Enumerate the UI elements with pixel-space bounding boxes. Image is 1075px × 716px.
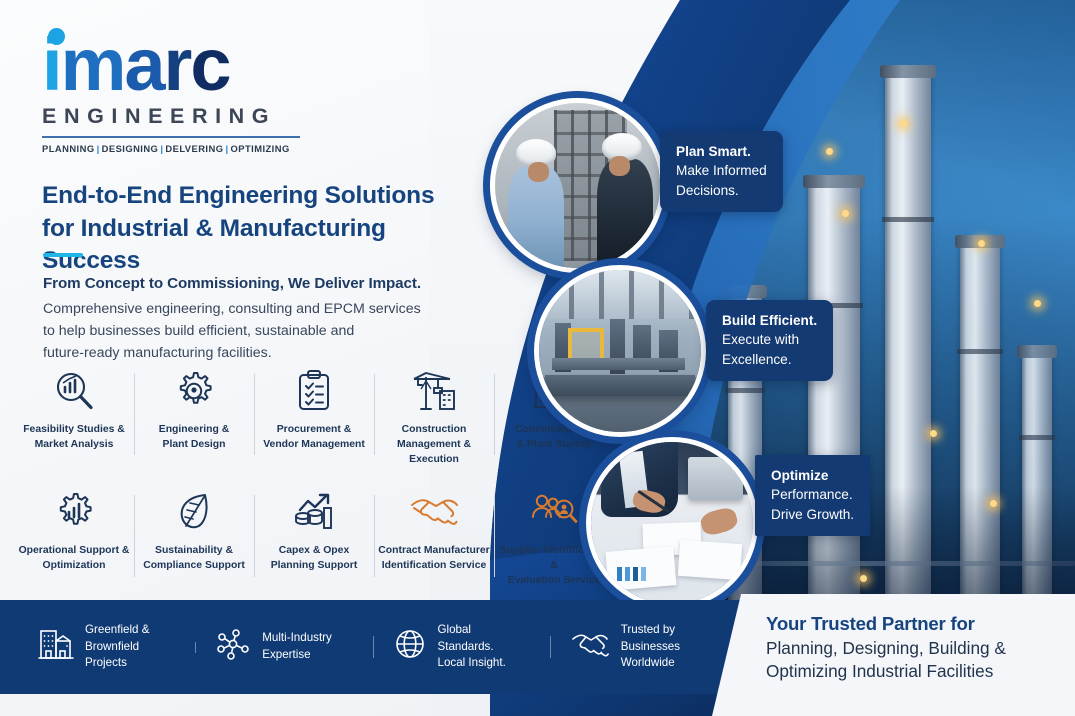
tagline-optimizing: OPTIMIZING [231,143,290,154]
label-line-3: Worldwide [621,655,680,672]
trust-item-multi-industry[interactable]: Multi-Industry Expertise [195,628,372,667]
callout-optimize-performance: Optimize Performance. Drive Growth. [755,455,870,536]
callout-line-2: Performance. [771,485,854,504]
service-label: Engineering & Plant Design [159,423,229,453]
bar-chart-on-paper [617,567,653,582]
factory-roof [539,270,701,319]
service-label: Feasibility Studies & Market Analysis [23,423,125,453]
label-line-1: Feasibility Studies & [23,423,125,438]
label-line-2: & Plant Startup [515,438,593,453]
callout-headline: Plan Smart. [676,142,767,161]
tagline-designing: DESIGNING [102,143,159,154]
label-line-2: Businesses [621,639,680,656]
analysts-reviewing-charts-photo [591,442,753,604]
coins-growth-icon [290,489,338,535]
handshake-icon [408,489,460,535]
label-line-2: Plant Design [159,438,229,453]
logo-subtitle: ENGINEERING [42,104,342,129]
gear-settings-icon [172,368,216,414]
logo-letter-c: c [190,30,229,100]
logo-tagline: PLANNING|DESIGNING|DELVERING|OPTIMIZING [42,143,342,154]
label-line-3: Projects [85,655,149,672]
callout-build-efficient: Build Efficient. Execute with Excellence… [706,300,833,381]
label-line-1: Multi-Industry [262,630,332,647]
crane-building-icon [410,368,458,414]
report-sheet [677,540,741,580]
callout-headline: Build Efficient. [722,311,817,330]
logo-wordmark: i m a r c [42,30,342,100]
worker-dark-suit [597,159,653,268]
logo-divider [42,136,300,138]
marketing-banner: i m a r c ENGINEERING PLANNING|DESIGNING… [0,0,1075,716]
clipboard-checklist-icon [294,368,334,414]
label-line-1: Global Standards. [438,622,530,656]
tagline-sep: | [95,143,102,154]
gear-bar-chart-icon [52,489,96,535]
headline-line-2: for Industrial & Manufacturing Success [42,213,462,278]
label-line-2: Expertise [262,647,332,664]
service-label: Operational Support & Optimization [19,544,130,574]
label-line-1: Greenfield & [85,622,149,639]
partner-panel-title: Your Trusted Partner for [766,612,1075,637]
trust-item-trusted-worldwide[interactable]: Trusted by Businesses Worldwide [550,622,727,672]
trust-item-label: Global Standards. Local Insight. [438,622,530,672]
tagline-sep: | [223,143,230,154]
service-operational-support[interactable]: Operational Support & Optimization [14,489,134,588]
circle-photo-engineers [490,98,665,273]
label-line-2: Optimization [19,559,130,574]
service-engineering-plant-design[interactable]: Engineering & Plant Design [134,368,254,467]
hero-body-text: Comprehensive engineering, consulting an… [43,298,443,364]
logo-letter-m: m [61,30,125,100]
label-line-3: Execution [397,453,471,468]
body-line-1: Comprehensive engineering, consulting an… [43,298,443,320]
callout-line-2: Make Informed [676,161,767,180]
worker-face [609,156,630,176]
logo-dot-icon [48,28,65,45]
service-label: Construction Management & Execution [397,423,471,467]
trust-item-greenfield-brownfield[interactable]: Greenfield & Brownfield Projects [18,622,195,672]
callout-line-3: Drive Growth. [771,505,854,524]
callout-headline: Optimize [771,466,854,485]
body-line-2: to help businesses build efficient, sust… [43,320,443,342]
magnifier-chart-icon [52,368,96,414]
body-line-3: future-ready manufacturing facilities. [43,342,443,364]
trust-item-label: Multi-Industry Expertise [262,630,332,664]
factory-production-floor-photo [539,270,701,432]
service-sustainability-compliance[interactable]: Sustainability & Compliance Support [134,489,254,588]
label-line-2: Local Insight. [438,655,530,672]
callout-line-2: Execute with [722,330,817,349]
conveyor-line [545,375,694,396]
label-line-1: Procurement & [263,423,365,438]
label-line-2: Vendor Management [263,438,365,453]
services-grid: Feasibility Studies & Market Analysis En… [14,368,614,589]
engineers-at-construction-site-photo [495,103,660,268]
label-line-2: Brownfield [85,639,149,656]
service-label: Contract Manufacturer Identification Ser… [378,544,489,574]
trust-item-label: Greenfield & Brownfield Projects [85,622,149,672]
callout-plan-smart: Plan Smart. Make Informed Decisions. [660,131,783,212]
callout-line-3: Decisions. [676,181,767,200]
label-line-2: Management & [397,438,471,453]
brand-logo[interactable]: i m a r c ENGINEERING PLANNING|DESIGNING… [42,30,342,154]
logo-letter-r: r [164,30,191,100]
service-feasibility-studies[interactable]: Feasibility Studies & Market Analysis [14,368,134,467]
label-line-1: Engineering & [159,423,229,438]
headline-line-1: End-to-End Engineering Solutions [42,180,462,213]
services-row-1: Feasibility Studies & Market Analysis En… [14,368,614,467]
service-contract-manufacturer[interactable]: Contract Manufacturer Identification Ser… [374,489,494,588]
label-line-1: Capex & Opex [271,544,358,559]
globe-icon [393,627,427,666]
label-line-2: Identification Service [378,559,489,574]
circle-photo-factory [534,265,706,437]
trust-item-global-standards[interactable]: Global Standards. Local Insight. [373,622,550,672]
service-construction-management[interactable]: Construction Management & Execution [374,368,494,467]
tagline-planning: PLANNING [42,143,95,154]
hero-headline: End-to-End Engineering Solutions for Ind… [42,180,462,278]
leaf-icon [174,489,214,535]
service-label: Sustainability & Compliance Support [143,544,245,574]
label-line-2: Market Analysis [23,438,125,453]
network-nodes-icon [215,628,251,667]
partner-panel-line-2: Planning, Designing, Building & [766,637,1075,660]
label-line-2: Compliance Support [143,559,245,574]
service-label: Capex & Opex Planning Support [271,544,358,574]
label-line-1: Construction [397,423,471,438]
buildings-icon [38,627,74,666]
partner-panel-line-3: Optimizing Industrial Facilities [766,660,1075,683]
label-line-2: Planning Support [271,559,358,574]
partner-panel: Your Trusted Partner for Planning, Desig… [712,594,1075,716]
accent-divider [43,253,83,257]
people-search-icon [529,489,579,535]
circle-photo-analysts [586,437,758,609]
laptop [688,457,743,501]
label-line-1: Contract Manufacturer [378,544,489,559]
logo-letter-a: a [124,30,163,100]
service-capex-opex-planning[interactable]: Capex & Opex Planning Support [254,489,374,588]
tagline-delvering: DELVERING [165,143,223,154]
hand [699,506,739,538]
conveyor-upper [552,358,685,371]
label-line-1: Trusted by [621,622,680,639]
label-line-1: Operational Support & [19,544,130,559]
worker-face [528,162,549,182]
trust-bar: Greenfield & Brownfield Projects [0,600,745,694]
trust-item-label: Trusted by Businesses Worldwide [621,622,680,672]
callout-line-3: Excellence. [722,350,817,369]
hero-subhead: From Concept to Commissioning, We Delive… [43,275,473,292]
handshake-outline-icon [570,628,610,665]
label-line-1: Sustainability & [143,544,245,559]
service-label: Procurement & Vendor Management [263,423,365,453]
services-row-2: Operational Support & Optimization Susta… [14,489,614,588]
service-procurement-vendor[interactable]: Procurement & Vendor Management [254,368,374,467]
